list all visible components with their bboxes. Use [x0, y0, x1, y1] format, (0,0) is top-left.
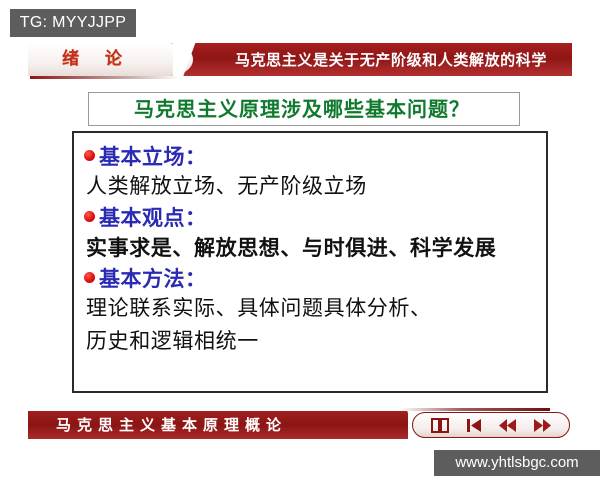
header-title: 马克思主义是关于无产阶级和人类解放的科学	[218, 47, 564, 73]
footer-navigation	[412, 412, 570, 438]
chapter-label: 绪 论	[62, 46, 172, 73]
bullet-dot-icon	[84, 211, 95, 222]
skip-to-start-icon[interactable]	[463, 416, 485, 434]
site-watermark: www.yhtlsbgc.com	[434, 450, 600, 476]
content-box: 基本立场： 人类解放立场、无产阶级立场 基本观点： 实事求是、解放思想、与时俱进…	[72, 131, 548, 393]
section-label: 基本立场：	[99, 141, 207, 171]
section-body-line: 实事求是、解放思想、与时俱进、科学发展	[84, 231, 536, 264]
list-item: 基本观点：	[84, 203, 536, 230]
section-body-line: 历史和逻辑相统一	[84, 325, 536, 358]
tg-watermark: TG: MYYJJPP	[10, 9, 136, 37]
footer-bar: 马克思主义基本原理概论	[28, 411, 572, 439]
section-body-line: 理论联系实际、具体问题具体分析、	[84, 292, 536, 325]
book-icon[interactable]	[429, 416, 451, 434]
page-title: 马克思主义原理涉及哪些基本问题？	[89, 96, 515, 123]
previous-icon[interactable]	[497, 416, 519, 434]
list-item: 基本立场：	[84, 142, 536, 169]
section-label: 基本方法：	[99, 263, 207, 293]
list-item: 基本方法：	[84, 264, 536, 291]
next-icon[interactable]	[531, 416, 553, 434]
section-body-line: 人类解放立场、无产阶级立场	[84, 170, 536, 203]
section-label: 基本观点：	[99, 202, 207, 232]
bullet-dot-icon	[84, 150, 95, 161]
footer-course-title: 马克思主义基本原理概论	[56, 413, 386, 437]
header-underline-decoration	[30, 76, 180, 79]
bullet-dot-icon	[84, 272, 95, 283]
slide-title-box: 马克思主义原理涉及哪些基本问题？	[88, 92, 520, 126]
header-banner: 绪 论 马克思主义是关于无产阶级和人类解放的科学	[28, 43, 572, 76]
